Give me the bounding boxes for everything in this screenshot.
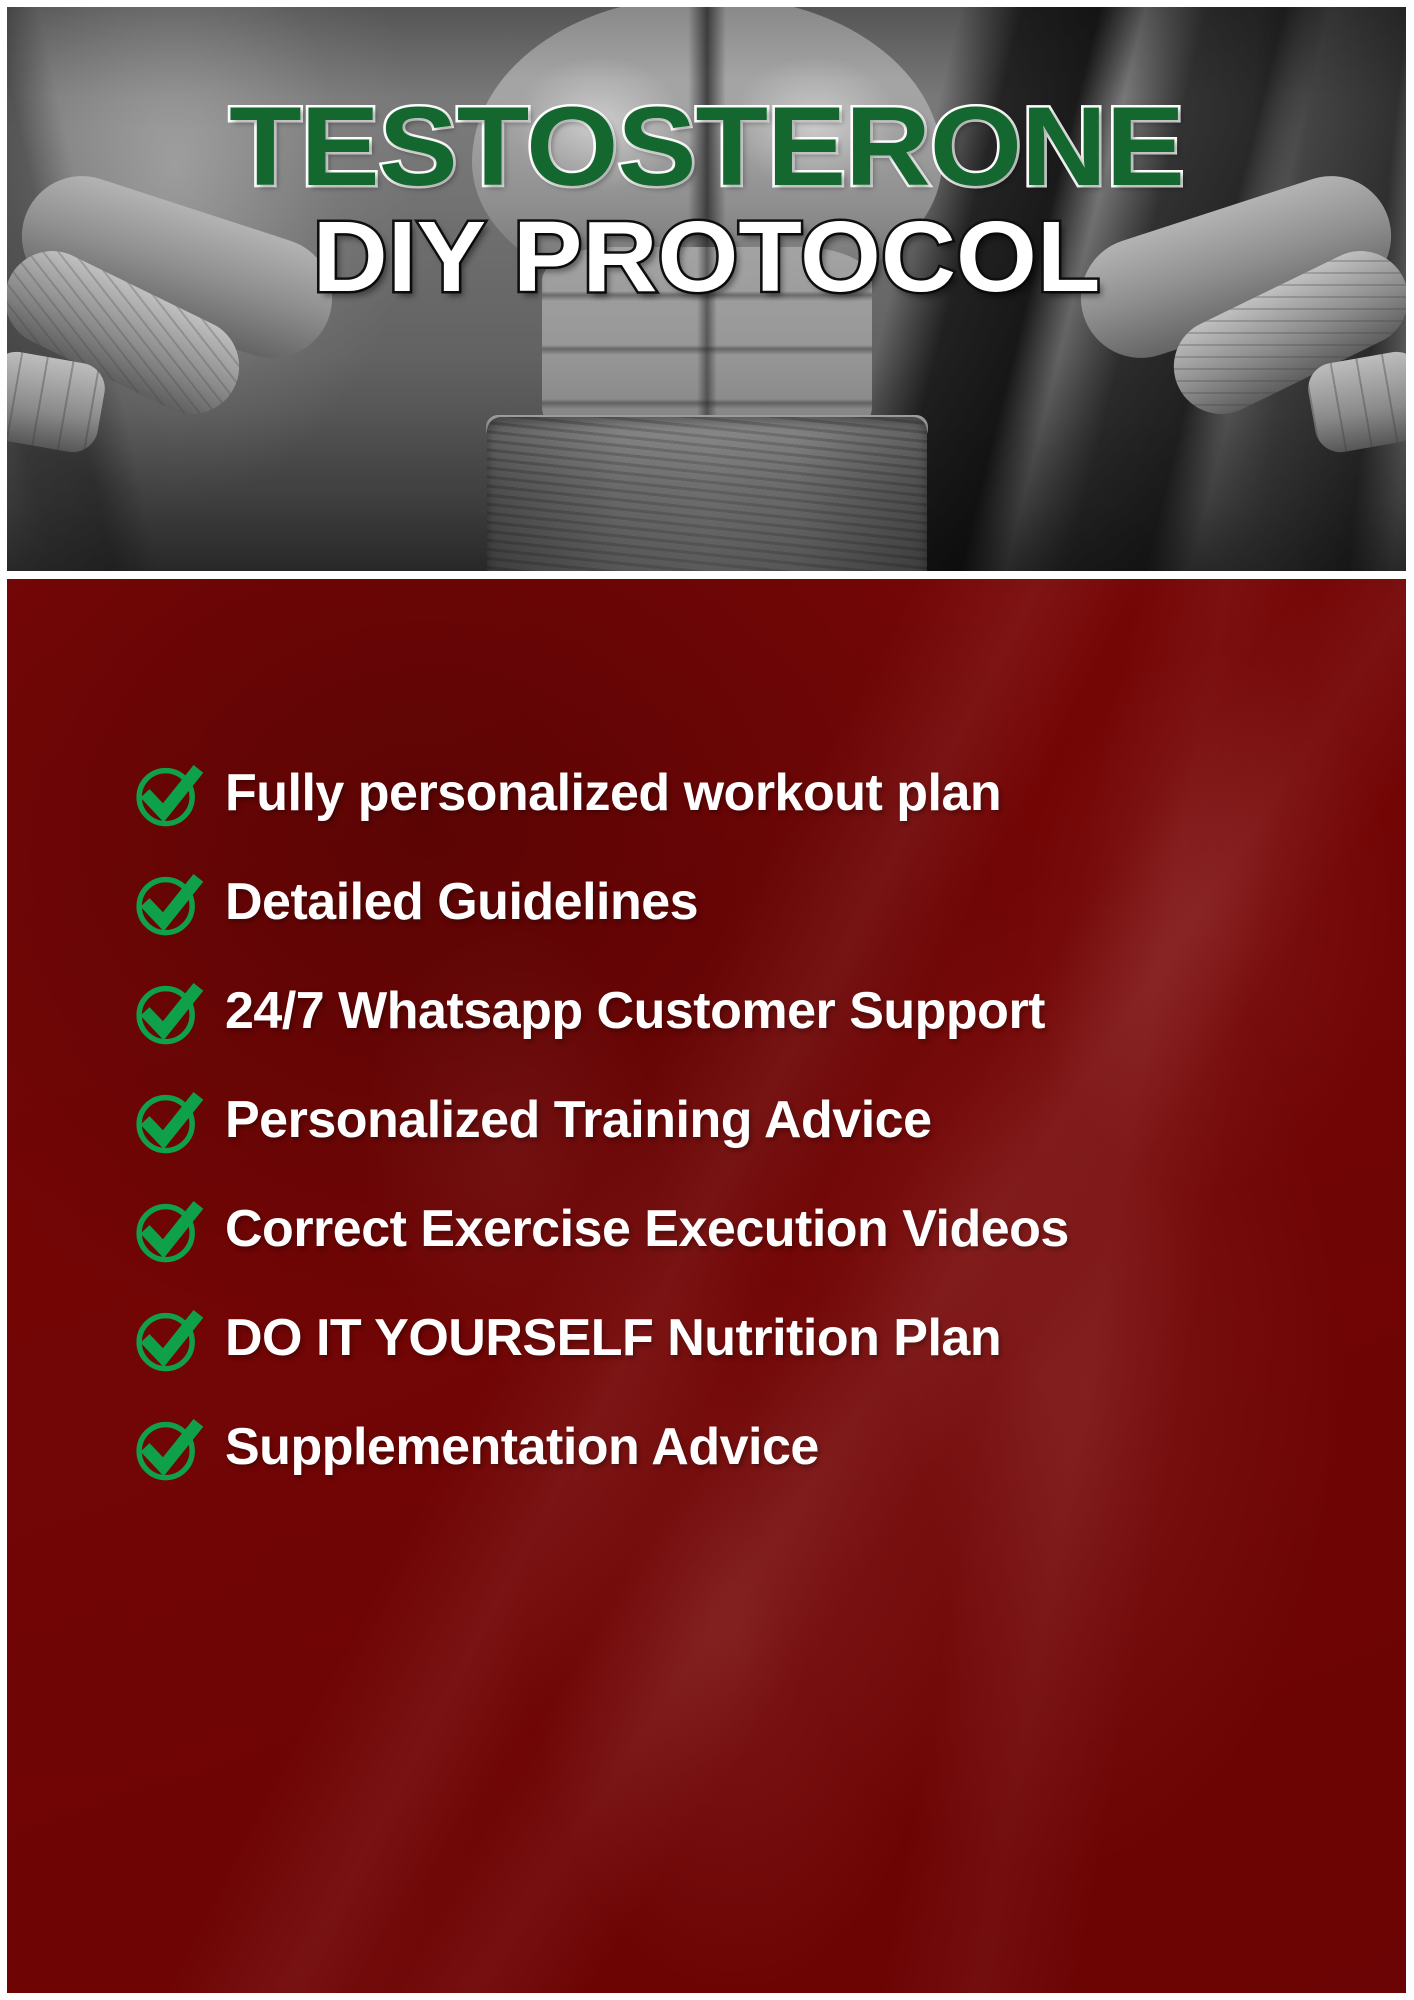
feature-label: 24/7 Whatsapp Customer Support — [225, 984, 1045, 1039]
list-item: Supplementation Advice — [7, 1393, 1406, 1502]
check-circle-icon — [129, 1191, 207, 1269]
hero-banner: TESTOSTERONE DIY PROTOCOL — [7, 7, 1406, 571]
feature-label: Correct Exercise Execution Videos — [225, 1202, 1069, 1257]
hero-vignette — [7, 7, 1406, 571]
check-circle-icon — [129, 755, 207, 833]
list-item: 24/7 Whatsapp Customer Support — [7, 957, 1406, 1066]
feature-label: Detailed Guidelines — [225, 875, 698, 930]
features-panel: Fully personalized workout plan Detailed… — [7, 579, 1406, 1993]
promo-poster: TESTOSTERONE DIY PROTOCOL Fully personal… — [0, 0, 1414, 2000]
list-item: DO IT YOURSELF Nutrition Plan — [7, 1284, 1406, 1393]
list-item: Fully personalized workout plan — [7, 739, 1406, 848]
poster-inner: TESTOSTERONE DIY PROTOCOL Fully personal… — [7, 7, 1406, 1993]
feature-label: Supplementation Advice — [225, 1420, 819, 1475]
feature-label: DO IT YOURSELF Nutrition Plan — [225, 1311, 1001, 1366]
feature-label: Fully personalized workout plan — [225, 766, 1001, 821]
list-item: Personalized Training Advice — [7, 1066, 1406, 1175]
list-item: Detailed Guidelines — [7, 848, 1406, 957]
list-item: Correct Exercise Execution Videos — [7, 1175, 1406, 1284]
feature-label: Personalized Training Advice — [225, 1093, 932, 1148]
check-circle-icon — [129, 864, 207, 942]
features-list: Fully personalized workout plan Detailed… — [7, 739, 1406, 1502]
check-circle-icon — [129, 1409, 207, 1487]
check-circle-icon — [129, 1300, 207, 1378]
check-circle-icon — [129, 973, 207, 1051]
check-circle-icon — [129, 1082, 207, 1160]
